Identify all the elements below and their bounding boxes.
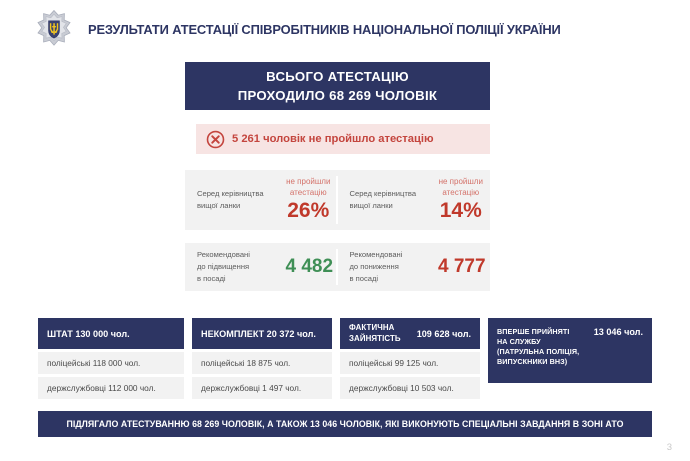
recommended-demotion-value: 4 777 [434,256,491,278]
stat-row-police: поліцейські 99 125 чол. [340,352,480,374]
police-badge-trident-icon [34,9,74,49]
panel-percent-value: 14% [440,199,482,223]
stat-column-header-value: 13 046 чол. [594,327,643,337]
recommendation-panels: Рекомендовані до підвищення в посаді 4 4… [185,243,490,291]
recommended-promotion-value: 4 482 [281,256,338,278]
stat-row-police: поліцейські 118 000 чол. [38,352,184,374]
panel-label-line-2: до підвищення [197,261,281,273]
hero-line-2: ПРОХОДИЛО 68 269 ЧОЛОВІК [238,86,438,105]
panel-label-line-1: Рекомендовані [350,249,434,261]
stat-column-actual-employment: ФАКТИЧНА ЗАЙНЯТІСТЬ 109 628 чол. поліцей… [340,318,480,399]
panel-sublabel-line-2: атестацію [442,188,479,199]
alert-text: 5 261 чоловік не пройшло атестацію [232,133,434,145]
panel-sublabel-line-1: не пройшли [286,177,330,188]
stat-column-header-line-4: ВИПУСКНИКИ ВНЗ) [497,357,579,367]
stat-column-header: ВПЕРШЕ ПРИЙНЯТІ НА СЛУЖБУ (ПАТРУЛЬНА ПОЛ… [488,318,652,383]
panel-label-line-2: до пониження [350,261,434,273]
stat-column-header-line-3: (ПАТРУЛЬНА ПОЛІЦІЯ, [497,347,579,357]
panel-label: Рекомендовані до пониження в посаді [338,249,434,284]
stat-column-header: ШТАТ 130 000 чол. [38,318,184,349]
stat-row-police: поліцейські 18 875 чол. [192,352,332,374]
panel-label-line-3: в посаді [197,273,281,285]
stat-column-header-title: ВПЕРШЕ ПРИЙНЯТІ НА СЛУЖБУ (ПАТРУЛЬНА ПОЛ… [497,327,579,367]
stat-column-staff: ШТАТ 130 000 чол. поліцейські 118 000 чо… [38,318,184,399]
stat-column-header: ФАКТИЧНА ЗАЙНЯТІСТЬ 109 628 чол. [340,318,480,349]
circle-x-icon [206,130,225,149]
stat-column-header: НЕКОМПЛЕКТ 20 372 чол. [192,318,332,349]
stat-column-header-line-1: ВПЕРШЕ ПРИЙНЯТІ [497,327,579,337]
page-title: РЕЗУЛЬТАТИ АТЕСТАЦІЇ СПІВРОБІТНИКІВ НАЦІ… [88,22,561,37]
stat-column-newly-hired: ВПЕРШЕ ПРИЙНЯТІ НА СЛУЖБУ (ПАТРУЛЬНА ПОЛ… [488,318,652,399]
panel-percent-value: 26% [287,199,329,223]
footer-summary-bar: ПІДЛЯГАЛО АТЕСТУВАННЮ 68 269 ЧОЛОВІК, А … [38,411,652,437]
panel-value-group: не пройшли атестацію 14% [432,177,491,223]
leadership-percent-panels: Серед керівництва вищої ланки не пройшли… [185,170,490,230]
leadership-percent-panel-1: Серед керівництва вищої ланки не пройшли… [185,170,338,230]
stat-row-civil-servants: держслужбовці 112 000 чол. [38,377,184,399]
panel-value-group: не пройшли атестацію 26% [279,177,338,223]
stat-column-header-value: 109 628 чол. [417,329,471,339]
panel-sublabel-line-2: атестацію [290,188,327,199]
recommended-demotion-panel: Рекомендовані до пониження в посаді 4 77… [338,243,491,291]
stat-column-header-line-1: ФАКТИЧНА [349,323,401,334]
hero-total-banner: ВСЬОГО АТЕСТАЦІЮ ПРОХОДИЛО 68 269 ЧОЛОВІ… [185,62,490,110]
failed-attestation-alert: 5 261 чоловік не пройшло атестацію [196,124,490,154]
staffing-stats-strip: ШТАТ 130 000 чол. поліцейські 118 000 чо… [38,318,652,399]
panel-sublabel-line-1: не пройшли [439,177,483,188]
stat-row-civil-servants: держслужбовці 1 497 чол. [192,377,332,399]
recommended-promotion-panel: Рекомендовані до підвищення в посаді 4 4… [185,243,338,291]
stat-column-header-line-2: ЗАЙНЯТІСТЬ [349,334,401,345]
panel-label: Серед керівництва вищої ланки [338,188,432,212]
panel-label: Серед керівництва вищої ланки [185,188,279,212]
hero-line-1: ВСЬОГО АТЕСТАЦІЮ [266,67,409,86]
panel-label: Рекомендовані до підвищення в посаді [185,249,281,284]
panel-label-line-1: Рекомендовані [197,249,281,261]
page-header: РЕЗУЛЬТАТИ АТЕСТАЦІЇ СПІВРОБІТНИКІВ НАЦІ… [0,0,690,58]
stat-column-header-line-2: НА СЛУЖБУ [497,337,579,347]
stat-column-header-title: ФАКТИЧНА ЗАЙНЯТІСТЬ [349,323,401,344]
stat-row-civil-servants: держслужбовці 10 503 чол. [340,377,480,399]
stat-column-vacancies: НЕКОМПЛЕКТ 20 372 чол. поліцейські 18 87… [192,318,332,399]
page-number: 3 [667,442,672,453]
leadership-percent-panel-2: Серед керівництва вищої ланки не пройшли… [338,170,491,230]
panel-label-line-3: в посаді [350,273,434,285]
footer-text: ПІДЛЯГАЛО АТЕСТУВАННЮ 68 269 ЧОЛОВІК, А … [67,419,624,429]
